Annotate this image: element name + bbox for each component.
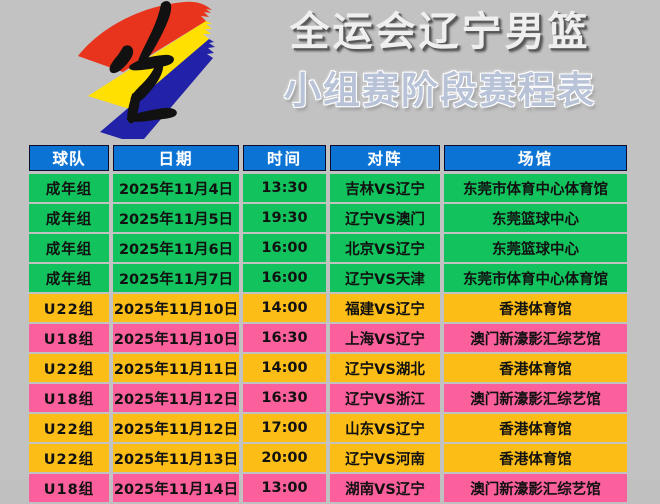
schedule-table: 球队日期时间对阵场馆成年组2025年11月4日13:30吉林VS辽宁东莞市体育中… xyxy=(29,145,627,504)
table-row[interactable]: U18组2025年11月14日13:00湖南VS辽宁澳门新濠影汇综艺馆 xyxy=(29,474,627,502)
cell-venue: 香港体育馆 xyxy=(444,444,627,472)
table-row[interactable]: U22组2025年11月13日20:00辽宁VS河南香港体育馆 xyxy=(29,444,627,472)
liaoning-basketball-logo-icon xyxy=(60,0,240,140)
cell-team: 成年组 xyxy=(29,204,109,232)
cell-date: 2025年11月6日 xyxy=(113,234,239,262)
cell-matchup: 辽宁VS湖北 xyxy=(330,354,440,382)
cell-time: 16:30 xyxy=(243,324,326,352)
table-header-row: 球队日期时间对阵场馆 xyxy=(29,145,627,171)
cell-time: 13:00 xyxy=(243,474,326,502)
title-block: 全运会辽宁男篮 小组赛阶段赛程表 xyxy=(240,0,660,140)
cell-date: 2025年11月11日 xyxy=(113,354,239,382)
table-row[interactable]: U22组2025年11月11日14:00辽宁VS湖北香港体育馆 xyxy=(29,354,627,382)
cell-matchup: 辽宁VS浙江 xyxy=(330,384,440,412)
cell-venue: 澳门新濠影汇综艺馆 xyxy=(444,384,627,412)
cell-date: 2025年11月10日 xyxy=(113,294,239,322)
cell-matchup: 辽宁VS澳门 xyxy=(330,204,440,232)
cell-matchup: 辽宁VS河南 xyxy=(330,444,440,472)
cell-time: 16:00 xyxy=(243,234,326,262)
cell-time: 17:00 xyxy=(243,414,326,442)
page-title: 全运会辽宁男篮 xyxy=(240,8,640,56)
cell-team: U22组 xyxy=(29,294,109,322)
cell-date: 2025年11月5日 xyxy=(113,204,239,232)
cell-time: 13:30 xyxy=(243,174,326,202)
table-row[interactable]: U18组2025年11月10日16:30上海VS辽宁澳门新濠影汇综艺馆 xyxy=(29,324,627,352)
table-row[interactable]: 成年组2025年11月4日13:30吉林VS辽宁东莞市体育中心体育馆 xyxy=(29,174,627,202)
table-row[interactable]: U22组2025年11月10日14:00福建VS辽宁香港体育馆 xyxy=(29,294,627,322)
cell-time: 16:00 xyxy=(243,264,326,292)
cell-team: U22组 xyxy=(29,414,109,442)
cell-date: 2025年11月14日 xyxy=(113,474,239,502)
cell-team: U18组 xyxy=(29,384,109,412)
table-row[interactable]: U18组2025年11月12日16:30辽宁VS浙江澳门新濠影汇综艺馆 xyxy=(29,384,627,412)
cell-date: 2025年11月13日 xyxy=(113,444,239,472)
cell-team: 成年组 xyxy=(29,264,109,292)
cell-venue: 香港体育馆 xyxy=(444,414,627,442)
cell-matchup: 山东VS辽宁 xyxy=(330,414,440,442)
cell-date: 2025年11月10日 xyxy=(113,324,239,352)
cell-matchup: 上海VS辽宁 xyxy=(330,324,440,352)
cell-team: U18组 xyxy=(29,474,109,502)
cell-matchup: 福建VS辽宁 xyxy=(330,294,440,322)
cell-venue: 东莞篮球中心 xyxy=(444,204,627,232)
cell-team: 成年组 xyxy=(29,174,109,202)
cell-time: 14:00 xyxy=(243,294,326,322)
cell-team: U18组 xyxy=(29,324,109,352)
cell-team: 成年组 xyxy=(29,234,109,262)
cell-venue: 东莞市体育中心体育馆 xyxy=(444,264,627,292)
cell-matchup: 北京VS辽宁 xyxy=(330,234,440,262)
cell-venue: 澳门新濠影汇综艺馆 xyxy=(444,474,627,502)
table-row[interactable]: 成年组2025年11月5日19:30辽宁VS澳门东莞篮球中心 xyxy=(29,204,627,232)
schedule-poster: 全运会辽宁男篮 小组赛阶段赛程表 球队日期时间对阵场馆成年组2025年11月4日… xyxy=(0,0,660,479)
cell-team: U22组 xyxy=(29,354,109,382)
poster-header: 全运会辽宁男篮 小组赛阶段赛程表 xyxy=(0,0,660,140)
cell-date: 2025年11月12日 xyxy=(113,384,239,412)
column-header-date[interactable]: 日期 xyxy=(113,145,239,171)
column-header-team[interactable]: 球队 xyxy=(29,145,109,171)
cell-matchup: 辽宁VS天津 xyxy=(330,264,440,292)
column-header-matchup[interactable]: 对阵 xyxy=(330,145,440,171)
cell-time: 14:00 xyxy=(243,354,326,382)
cell-venue: 东莞市体育中心体育馆 xyxy=(444,174,627,202)
cell-time: 16:30 xyxy=(243,384,326,412)
cell-team: U22组 xyxy=(29,444,109,472)
cell-date: 2025年11月4日 xyxy=(113,174,239,202)
cell-matchup: 吉林VS辽宁 xyxy=(330,174,440,202)
cell-venue: 香港体育馆 xyxy=(444,354,627,382)
table-row[interactable]: 成年组2025年11月6日16:00北京VS辽宁东莞篮球中心 xyxy=(29,234,627,262)
cell-date: 2025年11月12日 xyxy=(113,414,239,442)
table-row[interactable]: 成年组2025年11月7日16:00辽宁VS天津东莞市体育中心体育馆 xyxy=(29,264,627,292)
cell-venue: 香港体育馆 xyxy=(444,294,627,322)
column-header-venue[interactable]: 场馆 xyxy=(444,145,627,171)
page-subtitle: 小组赛阶段赛程表 xyxy=(240,68,640,114)
cell-date: 2025年11月7日 xyxy=(113,264,239,292)
column-header-time[interactable]: 时间 xyxy=(243,145,326,171)
cell-time: 20:00 xyxy=(243,444,326,472)
table-row[interactable]: U22组2025年11月12日17:00山东VS辽宁香港体育馆 xyxy=(29,414,627,442)
cell-venue: 东莞篮球中心 xyxy=(444,234,627,262)
cell-time: 19:30 xyxy=(243,204,326,232)
cell-matchup: 湖南VS辽宁 xyxy=(330,474,440,502)
cell-venue: 澳门新濠影汇综艺馆 xyxy=(444,324,627,352)
